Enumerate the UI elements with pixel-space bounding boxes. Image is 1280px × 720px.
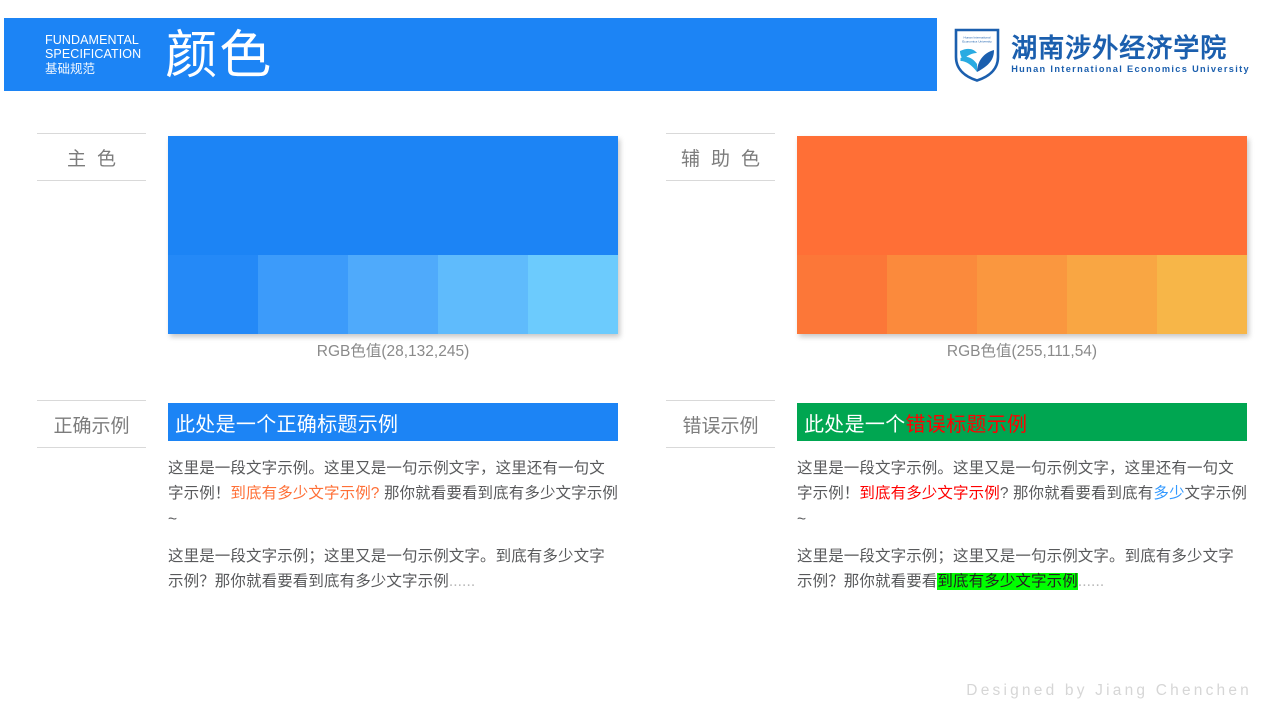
wrong-para2-green-highlight: 到底有多少文字示例: [937, 573, 1077, 590]
primary-color-swatch: [168, 136, 618, 334]
correct-example-banner: 此处是一个正确标题示例: [168, 403, 618, 441]
primary-color-main-block: [168, 136, 618, 255]
wrong-example-paragraph-2: 这里是一段文字示例；这里又是一句示例文字。到底有多少文字示例？那你就看要看到底有…: [797, 544, 1247, 595]
color-tint-1: [168, 255, 258, 334]
page-title: 颜色: [165, 30, 273, 82]
university-name-en: Hunan International Economics University: [1011, 64, 1250, 75]
designer-credit: Designed by Jiang Chenchen: [966, 682, 1252, 700]
university-name-cn: 湖南涉外经济学院: [1011, 35, 1250, 62]
correct-example-banner-text: 此处是一个正确标题示例: [175, 408, 398, 437]
header-left-edge-stripe: [0, 18, 4, 91]
color-tint-2: [887, 255, 977, 334]
secondary-color-caption: RGB色值(255,111,54): [797, 339, 1247, 361]
wrong-example-banner: 此处是一个错误标题示例: [797, 403, 1247, 441]
shield-icon: Hunan International Economics University: [953, 27, 1001, 83]
primary-color-label: 主色: [37, 133, 146, 181]
color-tint-1: [797, 255, 887, 334]
header-kicker: FUNDAMENTAL SPECIFICATION 基础规范: [45, 33, 141, 76]
wrong-example-label: 错误示例: [666, 400, 775, 448]
secondary-color-tint-row: [797, 255, 1247, 334]
correct-para2-text: 这里是一段文字示例；这里又是一句示例文字。到底有多少文字示例？那你就看要看到底有…: [168, 548, 605, 590]
header-kicker-cn: 基础规范: [45, 62, 141, 76]
correct-para2-ellipsis: ......: [449, 573, 475, 590]
wrong-para1-part-b: ? 那你就看要看到底有: [1000, 485, 1154, 502]
correct-example-label: 正确示例: [37, 400, 146, 448]
color-tint-3: [348, 255, 438, 334]
wrong-example-banner-text-red: 错误标题示例: [906, 408, 1028, 437]
primary-color-caption: RGB色值(28,132,245): [168, 339, 618, 361]
page-header-bar: FUNDAMENTAL SPECIFICATION 基础规范 颜色: [0, 18, 937, 91]
color-tint-2: [258, 255, 348, 334]
wrong-para2-ellipsis: ......: [1078, 573, 1104, 590]
university-logo-text: 湖南涉外经济学院 Hunan International Economics U…: [1011, 35, 1250, 75]
secondary-color-swatch: [797, 136, 1247, 334]
secondary-color-main-block: [797, 136, 1247, 255]
color-tint-4: [1067, 255, 1157, 334]
header-kicker-en-line2: SPECIFICATION: [45, 47, 141, 61]
color-tint-3: [977, 255, 1067, 334]
correct-para1-orange-highlight: 到底有多少文字示例?: [230, 485, 379, 502]
color-tint-5: [1157, 255, 1247, 334]
wrong-example-body: 这里是一段文字示例。这里又是一句示例文字，这里还有一句文字示例！到底有多少文字示…: [797, 441, 1247, 594]
primary-color-tint-row: [168, 255, 618, 334]
correct-example-block: 此处是一个正确标题示例 这里是一段文字示例。这里又是一句示例文字，这里还有一句文…: [168, 403, 618, 594]
correct-example-paragraph-1: 这里是一段文字示例。这里又是一句示例文字，这里还有一句文字示例！到底有多少文字示…: [168, 456, 618, 532]
wrong-para1-blue-highlight: 多少: [1153, 485, 1184, 502]
wrong-example-block: 此处是一个错误标题示例 这里是一段文字示例。这里又是一句示例文字，这里还有一句文…: [797, 403, 1247, 594]
color-tint-4: [438, 255, 528, 334]
header-kicker-en-line1: FUNDAMENTAL: [45, 33, 141, 47]
correct-example-paragraph-2: 这里是一段文字示例；这里又是一句示例文字。到底有多少文字示例？那你就看要看到底有…: [168, 544, 618, 595]
wrong-example-banner-text-white: 此处是一个: [804, 408, 906, 437]
wrong-para1-red-highlight: 到底有多少文字示例: [859, 485, 999, 502]
secondary-color-label: 辅助色: [666, 133, 775, 181]
wrong-example-paragraph-1: 这里是一段文字示例。这里又是一句示例文字，这里还有一句文字示例！到底有多少文字示…: [797, 456, 1247, 532]
university-logo: Hunan International Economics University…: [953, 20, 1250, 90]
color-tint-5: [528, 255, 618, 334]
correct-example-body: 这里是一段文字示例。这里又是一句示例文字，这里还有一句文字示例！到底有多少文字示…: [168, 441, 618, 594]
shield-badge-line2: Economics University: [962, 39, 992, 43]
